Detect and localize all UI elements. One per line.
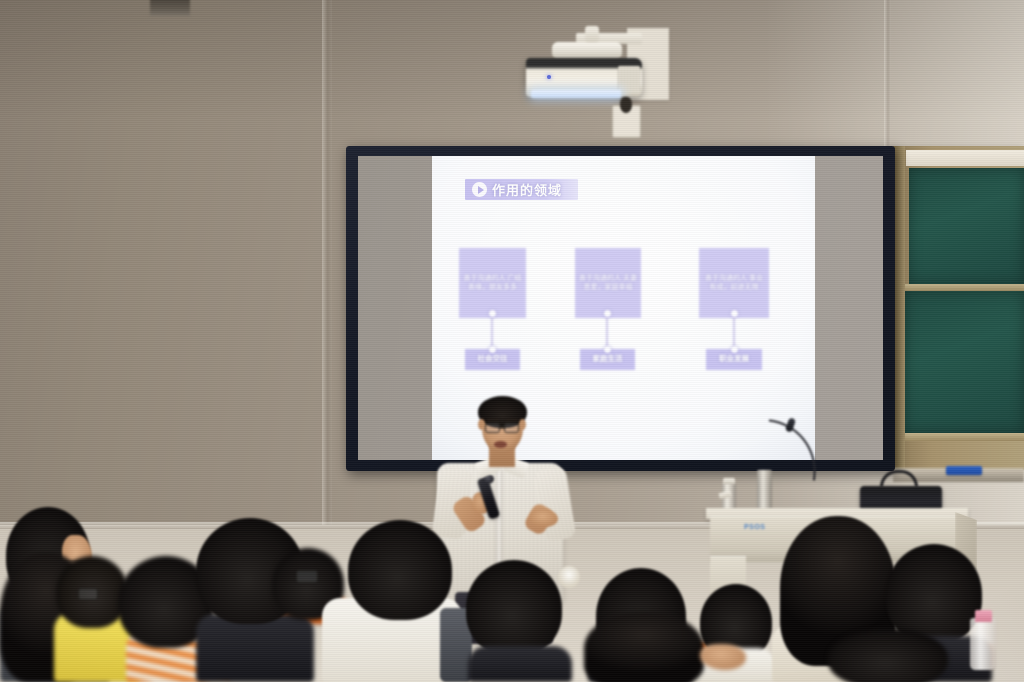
lecturer-left-hand	[530, 509, 558, 527]
audience-head-13	[828, 628, 948, 682]
audience-head-14	[584, 612, 704, 682]
audience-head-8	[466, 560, 562, 656]
projector-mount-cylinder	[552, 42, 622, 59]
microphone-base	[757, 470, 772, 510]
wall-speaker-box-icon	[150, 0, 190, 16]
lecture-hall-photo: 作用的领域 善于沟通的人 广结善缘，朋友多多 社会交往 善于沟通的人 夫妻恩爱，…	[0, 0, 1024, 682]
audience-head-7	[348, 520, 452, 620]
water-bottle[interactable]	[970, 618, 996, 670]
green-chalkboard	[893, 146, 1024, 470]
projector-mount-post	[585, 26, 599, 42]
lecturer-glasses-bridge	[499, 427, 505, 428]
chalkboard-panel-upper	[909, 168, 1024, 284]
screen-surface: 作用的领域 善于沟通的人 广结善缘，朋友多多 社会交往 善于沟通的人 夫妻恩爱，…	[358, 156, 883, 460]
chalkboard-bottom-rail	[901, 433, 1024, 441]
blue-eraser[interactable]	[946, 466, 982, 475]
chalkboard-top-strip	[906, 150, 1024, 166]
projector-vent	[618, 66, 640, 92]
audience-glasses-6	[296, 570, 318, 583]
lecturer-glasses-lens-left	[485, 423, 500, 433]
thermos-cap	[723, 478, 735, 484]
projection-screen: 作用的领域 善于沟通的人 广结善缘，朋友多多 社会交往 善于沟通的人 夫妻恩爱，…	[346, 146, 895, 471]
audience-torso-8	[468, 646, 572, 682]
projector-lens-glow	[531, 90, 621, 98]
chalkboard-divider	[904, 284, 1024, 291]
audience-glasses-3	[78, 588, 98, 600]
chalkboard-panel-lower	[905, 291, 1024, 433]
lecturer-ear-right	[519, 419, 526, 430]
lecturer-glasses-lens-right	[504, 423, 519, 433]
audience-torso-5	[196, 614, 314, 682]
lecturer-mouth	[494, 441, 507, 448]
wall-seam-right	[884, 0, 891, 160]
projector-power-led-icon	[547, 75, 551, 79]
wall-socket-knob-icon[interactable]	[620, 97, 632, 113]
lectern-logo: PSOS	[744, 524, 765, 531]
lecturer-ear-left	[478, 419, 485, 430]
water-bottle-cap	[975, 610, 992, 622]
audience-hair-clip-8	[558, 566, 580, 588]
